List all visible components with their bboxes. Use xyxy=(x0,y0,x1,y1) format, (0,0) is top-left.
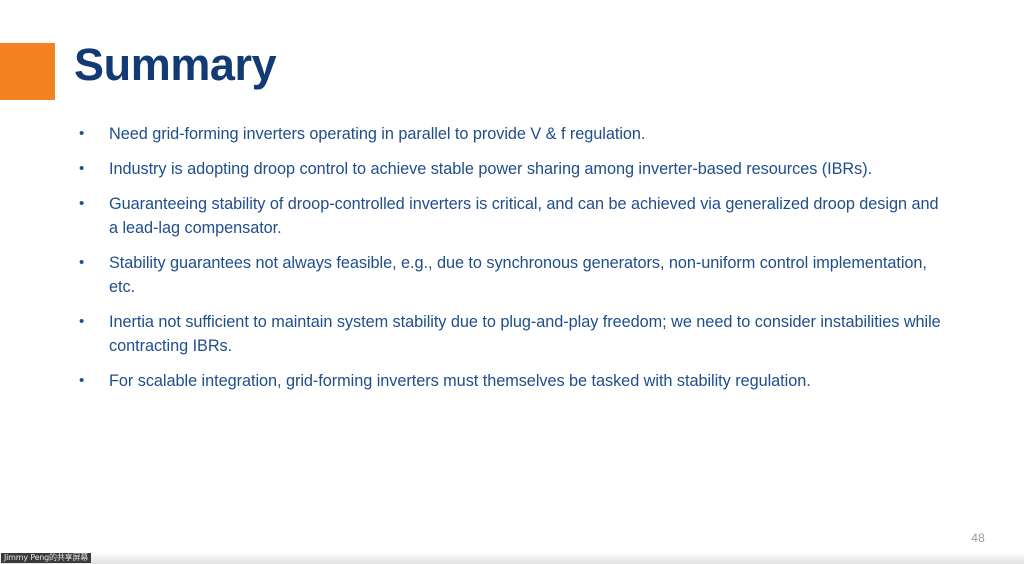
list-item-text: Need grid-forming inverters operating in… xyxy=(109,122,948,146)
list-item-text: Guaranteeing stability of droop-controll… xyxy=(109,192,948,240)
slide-canvas: Summary • Need grid-forming inverters op… xyxy=(0,0,1024,552)
list-item: • Inertia not sufficient to maintain sys… xyxy=(78,310,948,358)
screen-share-watermark: Jimmy Peng的共享屏幕 xyxy=(1,553,91,563)
list-item: • Guaranteeing stability of droop-contro… xyxy=(78,192,948,240)
list-item: • Industry is adopting droop control to … xyxy=(78,157,948,181)
bullet-dot-icon: • xyxy=(78,251,109,275)
list-item-text: Stability guarantees not always feasible… xyxy=(109,251,948,299)
bullet-list: • Need grid-forming inverters operating … xyxy=(78,122,948,404)
screen-share-bar: Jimmy Peng的共享屏幕 xyxy=(0,552,1024,564)
list-item-text: For scalable integration, grid-forming i… xyxy=(109,369,948,393)
title-accent-block xyxy=(0,43,55,100)
page-title: Summary xyxy=(74,38,276,91)
bullet-dot-icon: • xyxy=(78,192,109,216)
list-item: • For scalable integration, grid-forming… xyxy=(78,369,948,393)
bullet-dot-icon: • xyxy=(78,157,109,181)
list-item: • Need grid-forming inverters operating … xyxy=(78,122,948,146)
bullet-dot-icon: • xyxy=(78,369,109,393)
bullet-dot-icon: • xyxy=(78,122,109,146)
list-item-text: Inertia not sufficient to maintain syste… xyxy=(109,310,948,358)
list-item-text: Industry is adopting droop control to ac… xyxy=(109,157,948,181)
bullet-dot-icon: • xyxy=(78,310,109,334)
list-item: • Stability guarantees not always feasib… xyxy=(78,251,948,299)
page-number: 48 xyxy=(971,531,985,545)
